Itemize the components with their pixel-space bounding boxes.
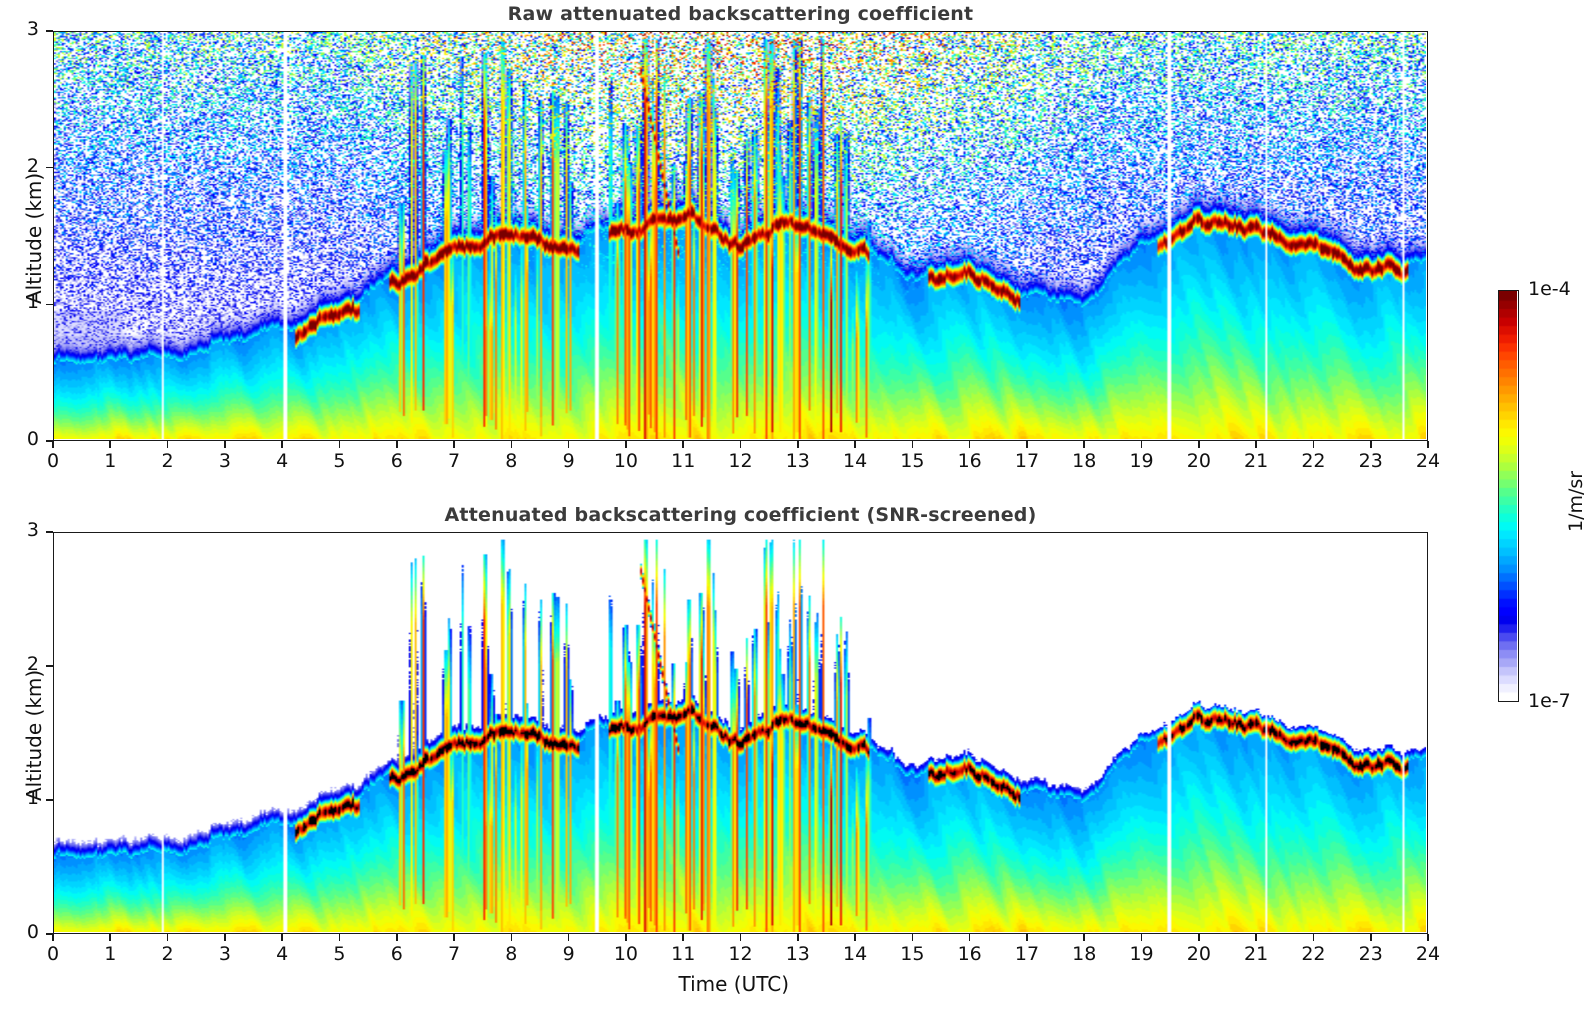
x-tick-label: 12 <box>719 450 763 472</box>
screened-backscatter-heatmap <box>54 533 1426 932</box>
x-tick-mark <box>1083 441 1085 448</box>
x-tick-label: 4 <box>260 450 304 472</box>
colorbar-frame <box>1498 290 1519 702</box>
x-tick-mark <box>912 441 914 448</box>
colorbar-gradient <box>1499 291 1517 700</box>
x-tick-label: 6 <box>375 450 419 472</box>
x-tick-label: 12 <box>719 943 763 965</box>
y-tick-mark <box>46 531 53 533</box>
x-tick-mark <box>1427 934 1429 941</box>
x-tick-label: 7 <box>432 943 476 965</box>
time-axis-label: Time (UTC) <box>679 972 790 996</box>
x-tick-label: 17 <box>1005 450 1049 472</box>
x-tick-label: 5 <box>317 450 361 472</box>
x-tick-mark <box>453 934 455 941</box>
x-tick-mark <box>1255 934 1257 941</box>
x-tick-label: 22 <box>1291 943 1335 965</box>
x-tick-mark <box>453 441 455 448</box>
x-tick-mark <box>969 934 971 941</box>
x-tick-label: 6 <box>375 943 419 965</box>
x-tick-mark <box>740 441 742 448</box>
x-tick-label: 7 <box>432 450 476 472</box>
x-tick-label: 15 <box>890 943 934 965</box>
x-tick-mark <box>1370 934 1372 941</box>
x-tick-label: 11 <box>661 943 705 965</box>
x-tick-mark <box>1026 441 1028 448</box>
x-tick-mark <box>682 934 684 941</box>
x-tick-mark <box>52 441 54 448</box>
x-tick-mark <box>854 441 856 448</box>
x-tick-mark <box>1313 934 1315 941</box>
screened-plot-axes[interactable] <box>53 532 1428 934</box>
y-tick-mark <box>46 440 53 442</box>
x-tick-label: 8 <box>489 943 533 965</box>
x-tick-label: 19 <box>1120 450 1164 472</box>
x-tick-label: 24 <box>1406 943 1450 965</box>
x-tick-label: 1 <box>88 943 132 965</box>
x-tick-label: 3 <box>203 450 247 472</box>
colorbar-max-label: 1e-4 <box>1528 278 1571 300</box>
x-tick-label: 10 <box>604 943 648 965</box>
x-tick-label: 18 <box>1062 450 1106 472</box>
x-tick-mark <box>167 934 169 941</box>
screened-y-axis-label: Altitude (km) <box>22 670 46 801</box>
x-tick-label: 20 <box>1177 943 1221 965</box>
x-tick-mark <box>797 441 799 448</box>
x-tick-mark <box>1141 934 1143 941</box>
x-tick-label: 20 <box>1177 450 1221 472</box>
colorbar-min-label: 1e-7 <box>1528 690 1571 712</box>
x-tick-label: 10 <box>604 450 648 472</box>
x-tick-mark <box>109 934 111 941</box>
x-tick-label: 17 <box>1005 943 1049 965</box>
x-tick-mark <box>224 934 226 941</box>
y-tick-label: 3 <box>9 18 39 40</box>
x-tick-mark <box>281 934 283 941</box>
x-tick-mark <box>1198 441 1200 448</box>
y-tick-mark <box>46 30 53 32</box>
x-tick-mark <box>1198 934 1200 941</box>
x-tick-mark <box>167 441 169 448</box>
panel-screened-title: Attenuated backscattering coefficient (S… <box>53 504 1428 526</box>
x-tick-mark <box>854 934 856 941</box>
x-tick-label: 16 <box>948 450 992 472</box>
colorbar-unit-label: 1/m/sr <box>1565 471 1587 532</box>
y-tick-mark <box>46 799 53 801</box>
x-tick-label: 22 <box>1291 450 1335 472</box>
x-tick-mark <box>396 441 398 448</box>
x-tick-mark <box>339 441 341 448</box>
x-tick-label: 4 <box>260 943 304 965</box>
x-tick-mark <box>52 934 54 941</box>
y-tick-label: 0 <box>9 428 39 450</box>
x-tick-label: 14 <box>833 450 877 472</box>
x-tick-label: 23 <box>1349 450 1393 472</box>
x-tick-mark <box>511 934 513 941</box>
raw-backscatter-heatmap <box>54 32 1426 439</box>
x-tick-mark <box>969 441 971 448</box>
x-tick-label: 8 <box>489 450 533 472</box>
x-tick-label: 21 <box>1234 450 1278 472</box>
x-tick-label: 3 <box>203 943 247 965</box>
x-tick-label: 14 <box>833 943 877 965</box>
x-tick-label: 23 <box>1349 943 1393 965</box>
x-tick-label: 2 <box>146 943 190 965</box>
x-tick-label: 18 <box>1062 943 1106 965</box>
x-tick-mark <box>568 441 570 448</box>
x-tick-mark <box>625 934 627 941</box>
x-tick-label: 11 <box>661 450 705 472</box>
y-tick-mark <box>46 167 53 169</box>
y-tick-label: 3 <box>9 519 39 541</box>
x-tick-mark <box>682 441 684 448</box>
x-tick-label: 9 <box>547 943 591 965</box>
x-tick-label: 0 <box>31 943 75 965</box>
x-tick-mark <box>396 934 398 941</box>
x-tick-label: 16 <box>948 943 992 965</box>
x-tick-label: 19 <box>1120 943 1164 965</box>
x-tick-mark <box>109 441 111 448</box>
x-tick-mark <box>511 441 513 448</box>
x-tick-label: 0 <box>31 450 75 472</box>
x-tick-mark <box>1083 934 1085 941</box>
y-tick-mark <box>46 304 53 306</box>
x-tick-mark <box>1313 441 1315 448</box>
y-tick-label: 0 <box>9 921 39 943</box>
x-tick-mark <box>1026 934 1028 941</box>
x-tick-label: 13 <box>776 450 820 472</box>
x-tick-label: 13 <box>776 943 820 965</box>
x-tick-mark <box>1427 441 1429 448</box>
x-tick-mark <box>797 934 799 941</box>
raw-y-axis-label: Altitude (km) <box>22 173 46 304</box>
x-tick-label: 2 <box>146 450 190 472</box>
x-tick-label: 9 <box>547 450 591 472</box>
x-tick-mark <box>339 934 341 941</box>
x-tick-mark <box>912 934 914 941</box>
x-tick-mark <box>625 441 627 448</box>
x-tick-mark <box>224 441 226 448</box>
x-tick-label: 1 <box>88 450 132 472</box>
panel-raw-title: Raw attenuated backscattering coefficien… <box>53 3 1428 25</box>
x-tick-mark <box>568 934 570 941</box>
x-tick-mark <box>740 934 742 941</box>
y-tick-mark <box>46 933 53 935</box>
y-tick-mark <box>46 665 53 667</box>
x-tick-mark <box>1370 441 1372 448</box>
x-tick-mark <box>1255 441 1257 448</box>
raw-plot-axes[interactable] <box>53 31 1428 441</box>
x-tick-label: 24 <box>1406 450 1450 472</box>
x-tick-label: 5 <box>317 943 361 965</box>
x-tick-mark <box>1141 441 1143 448</box>
x-tick-label: 21 <box>1234 943 1278 965</box>
x-tick-mark <box>281 441 283 448</box>
x-tick-label: 15 <box>890 450 934 472</box>
